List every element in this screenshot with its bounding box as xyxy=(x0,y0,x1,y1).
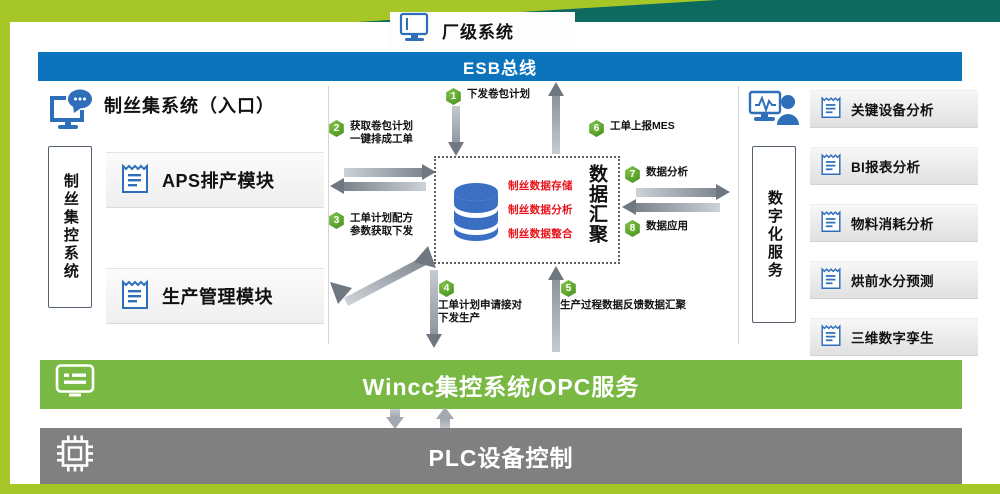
arrow-up-from-plc xyxy=(436,409,454,429)
document-icon xyxy=(820,94,842,125)
document-icon xyxy=(120,277,150,316)
wincc-bar[interactable]: Wincc集控系统/OPC服务 xyxy=(40,360,962,409)
service-item-material-consumption[interactable]: 物料消耗分析 xyxy=(810,204,978,242)
factory-system-node[interactable]: 厂级系统 xyxy=(390,12,575,48)
step-7-badge: 7 xyxy=(624,166,641,183)
factory-system-label: 厂级系统 xyxy=(442,18,514,43)
module-production[interactable]: 生产管理模块 xyxy=(106,268,324,324)
module-production-label: 生产管理模块 xyxy=(162,283,273,309)
step-6-label: 工单上报MES xyxy=(610,120,675,133)
data-capability-analysis: 制丝数据分析 xyxy=(508,202,586,217)
arrow-bidir-recipe xyxy=(324,244,442,306)
document-icon xyxy=(820,265,842,296)
panel-divider-right xyxy=(738,86,739,344)
step-1: 1 下发卷包计划 xyxy=(445,88,530,105)
module-aps-label: APS排产模块 xyxy=(162,167,275,193)
digital-service-label: 数字化服务 xyxy=(766,190,782,280)
left-edge-strip xyxy=(0,0,10,494)
diagram-canvas: 厂级系统 ESB总线 制丝集控系统 xyxy=(0,0,1000,494)
step-1-badge: 1 xyxy=(445,88,462,105)
database-icon xyxy=(450,180,502,247)
plc-bar[interactable]: PLC设备控制 xyxy=(40,428,962,484)
service-item-label: 三维数字孪生 xyxy=(851,327,934,347)
center-flow: 1 下发卷包计划 2 获取卷包计划 一键排成工单 3 xyxy=(330,84,742,352)
document-icon xyxy=(820,208,842,239)
step-7: 7 数据分析 xyxy=(624,166,688,183)
monitor-chat-icon xyxy=(46,88,94,139)
data-capability-list: 制丝数据存储 制丝数据分析 制丝数据整合 xyxy=(508,178,586,250)
step-2-label: 获取卷包计划 一键排成工单 xyxy=(350,120,413,146)
monitor-person-analytics-icon xyxy=(748,88,800,139)
service-item-label: 烘前水分预测 xyxy=(851,270,934,290)
plc-label: PLC设备控制 xyxy=(429,439,574,473)
step-3-badge: 3 xyxy=(328,212,345,229)
step-3: 3 工单计划配方 参数获取下发 xyxy=(328,212,413,238)
step-5-label: 生产过程数据反馈数据汇聚 xyxy=(560,299,686,312)
step-7-label: 数据分析 xyxy=(646,166,688,179)
esb-bus-bar[interactable]: ESB总线 xyxy=(38,52,962,81)
monitor-icon xyxy=(398,12,432,49)
data-aggregation-label: 数据汇聚 xyxy=(583,164,610,260)
esb-bus-label: ESB总线 xyxy=(463,54,537,79)
document-icon xyxy=(120,161,150,200)
mes-system-vertical-label: 制丝集控系统 xyxy=(62,173,78,281)
silk-entry-title-row: 制丝集系统（入口） xyxy=(104,88,328,122)
arrow-up-esb xyxy=(548,82,564,156)
monitor-list-icon xyxy=(54,362,96,407)
digital-service-box[interactable]: 数字化服务 xyxy=(752,146,796,323)
arrow-down-plan xyxy=(448,106,464,156)
mes-system-vertical-box[interactable]: 制丝集控系统 xyxy=(48,146,92,308)
service-list: 关键设备分析 BI报表分析 xyxy=(810,88,960,348)
step-6-badge: 6 xyxy=(588,120,605,137)
wincc-label: Wincc集控系统/OPC服务 xyxy=(363,368,640,402)
step-4: 4 工单计划申请接对 下发生产 xyxy=(438,280,522,325)
step-1-label: 下发卷包计划 xyxy=(467,88,530,101)
step-8-label: 数据应用 xyxy=(646,220,688,233)
arrow-up-feedback xyxy=(548,266,564,352)
service-item-moisture-prediction[interactable]: 烘前水分预测 xyxy=(810,261,978,299)
data-aggregation-box: 制丝数据存储 制丝数据分析 制丝数据整合 数据汇聚 xyxy=(434,156,620,264)
step-6: 6 工单上报MES xyxy=(588,120,675,137)
document-icon xyxy=(820,322,842,353)
arrow-down-to-plc xyxy=(386,409,404,429)
silk-entry-panel: 制丝集系统（入口） APS排产模块 xyxy=(100,84,328,346)
service-item-digital-twin[interactable]: 三维数字孪生 xyxy=(810,318,978,356)
step-8-badge: 8 xyxy=(624,220,641,237)
document-icon xyxy=(820,151,842,182)
step-3-label: 工单计划配方 参数获取下发 xyxy=(350,212,413,238)
middle-canvas: 制丝集控系统 制丝集系统（入口） APS排产模块 xyxy=(38,84,962,352)
top-banner-lime-wedge xyxy=(0,0,750,22)
module-aps[interactable]: APS排产模块 xyxy=(106,152,324,208)
silk-entry-title: 制丝集系统（入口） xyxy=(104,92,275,118)
step-4-label: 工单计划申请接对 下发生产 xyxy=(438,299,522,325)
step-8: 8 数据应用 xyxy=(624,220,688,237)
chip-icon xyxy=(54,433,96,480)
arrow-down-workorder xyxy=(426,270,442,350)
data-capability-integration: 制丝数据整合 xyxy=(508,226,586,241)
bottom-banner xyxy=(0,484,1000,494)
data-capability-storage: 制丝数据存储 xyxy=(508,178,586,193)
digital-service-rail: 数字化服务 xyxy=(742,84,810,352)
mes-rail: 制丝集控系统 xyxy=(38,84,100,352)
service-item-label: 物料消耗分析 xyxy=(851,213,934,233)
arrow-bidir-digital xyxy=(622,188,734,216)
service-item-key-equipment[interactable]: 关键设备分析 xyxy=(810,90,978,128)
step-2: 2 获取卷包计划 一键排成工单 xyxy=(328,120,413,146)
service-item-bi-report[interactable]: BI报表分析 xyxy=(810,147,978,185)
arrow-bidir-plan xyxy=(330,168,438,194)
step-2-badge: 2 xyxy=(328,120,345,137)
service-item-label: BI报表分析 xyxy=(851,156,920,176)
service-item-label: 关键设备分析 xyxy=(851,99,934,119)
step-5: 5 生产过程数据反馈数据汇聚 xyxy=(560,280,686,312)
